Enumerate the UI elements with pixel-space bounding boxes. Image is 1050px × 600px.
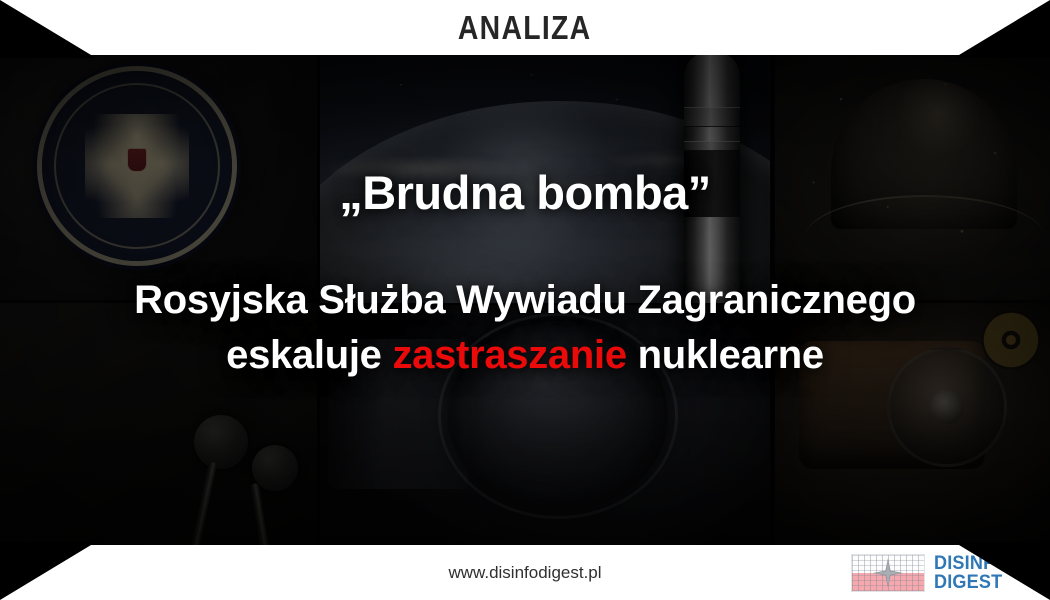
collage-tile-reactor-machinery bbox=[320, 305, 770, 545]
poster-graphic: ANALIZA bbox=[0, 0, 1050, 600]
collage-tile-press-microphones bbox=[0, 303, 318, 545]
microphone-head bbox=[194, 415, 248, 469]
page-title: ANALIZA bbox=[458, 9, 592, 47]
radiation-trefoil-icon bbox=[980, 309, 1042, 371]
collage-tile-svr-seal bbox=[0, 55, 318, 300]
facility-lights bbox=[775, 55, 1050, 300]
microphone-stem bbox=[184, 461, 218, 545]
header-bar: ANALIZA bbox=[0, 0, 1050, 55]
machinery-flange-ring bbox=[438, 313, 678, 519]
collage-tile-missile bbox=[660, 55, 772, 303]
seal-shield-icon bbox=[127, 148, 147, 172]
collage-tile-reactor-dome bbox=[775, 55, 1050, 300]
wheel-hub bbox=[930, 390, 964, 424]
missile-band-lower bbox=[684, 141, 740, 151]
logo-line-2: DIGEST bbox=[934, 573, 1009, 592]
collage-seam bbox=[317, 55, 320, 545]
compass-star-icon bbox=[873, 558, 903, 588]
background-collage bbox=[0, 55, 1050, 545]
missile-band-upper bbox=[684, 107, 740, 127]
missile-dark-section bbox=[684, 151, 740, 217]
collage-tile-rusted-machinery bbox=[775, 303, 1050, 545]
microphone-stem bbox=[250, 483, 275, 545]
collage-seam bbox=[771, 55, 774, 545]
microphone-head bbox=[252, 445, 298, 491]
logo-mark-icon bbox=[851, 554, 925, 592]
footer-bar: www.disinfodigest.pl DISINFO DIGEST bbox=[0, 545, 1050, 600]
svr-emblem-icon bbox=[42, 71, 232, 261]
